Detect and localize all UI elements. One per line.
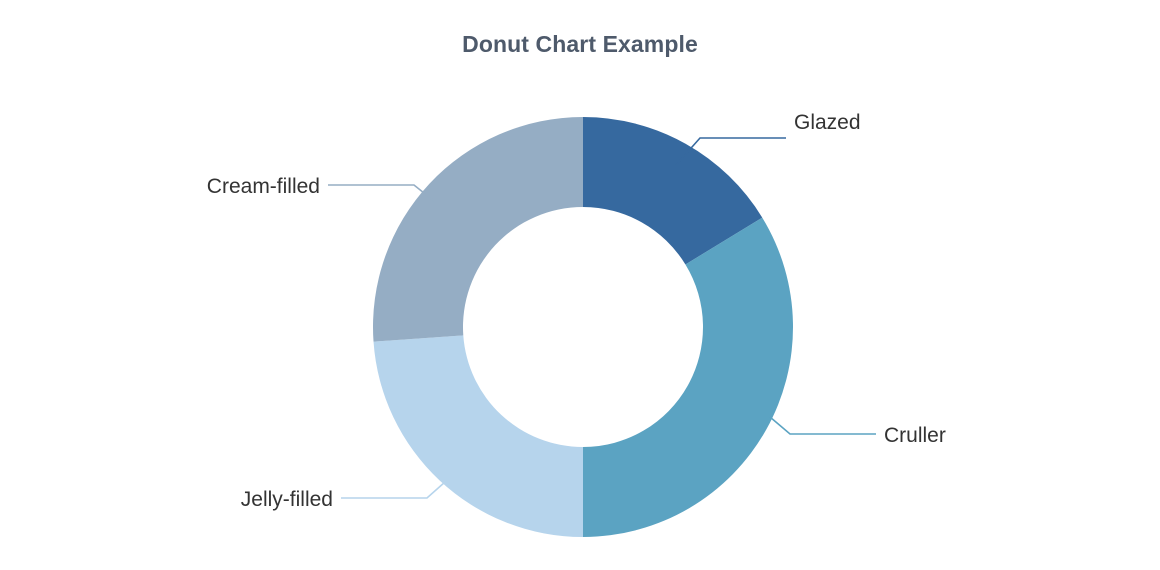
- slice-label-cruller: Cruller: [884, 424, 946, 447]
- slice-label-jelly-filled: Jelly-filled: [241, 488, 333, 511]
- slice-cruller[interactable]: [583, 218, 793, 537]
- slice-jelly-filled[interactable]: [374, 335, 583, 537]
- leader-line-cruller: [770, 417, 876, 434]
- donut-chart-svg: Glazed Cruller Jelly-filled Cream-filled: [0, 0, 1160, 570]
- slice-cream-filled[interactable]: [373, 117, 583, 342]
- donut-slices: [373, 117, 793, 537]
- donut-chart: Donut Chart Example Glazed Cruller Jelly…: [0, 0, 1160, 570]
- leader-line-jelly-filled: [341, 482, 445, 498]
- slice-label-cream-filled: Cream-filled: [207, 175, 320, 198]
- slice-label-glazed: Glazed: [794, 111, 861, 134]
